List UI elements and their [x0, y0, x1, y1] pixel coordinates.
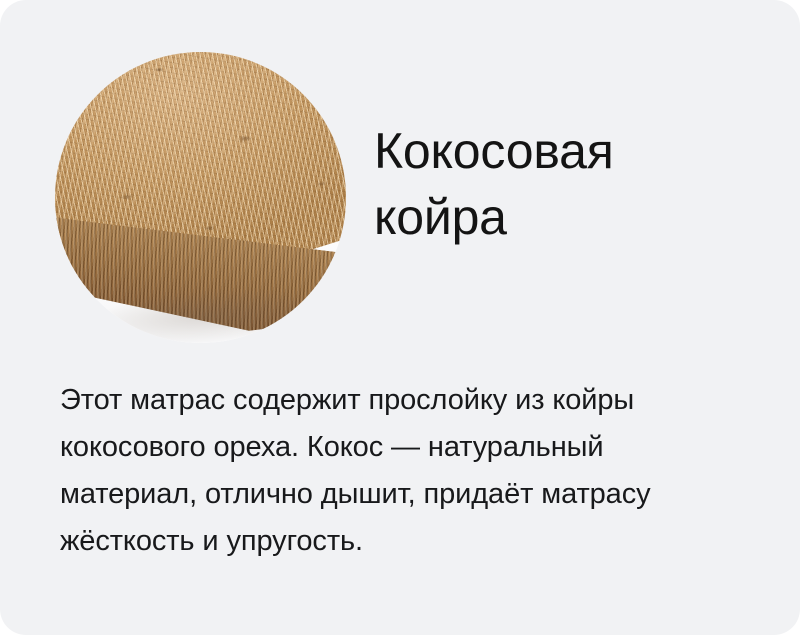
coir-slab [55, 52, 346, 343]
coconut-coir-image [55, 52, 346, 343]
page-title: Кокосовая койра [374, 118, 754, 250]
description-text: Этот матрас содержит прослойку из койры … [60, 377, 720, 565]
info-card: Кокосовая койра Этот матрас содержит про… [0, 0, 800, 635]
hero-section: Кокосовая койра [0, 0, 800, 360]
